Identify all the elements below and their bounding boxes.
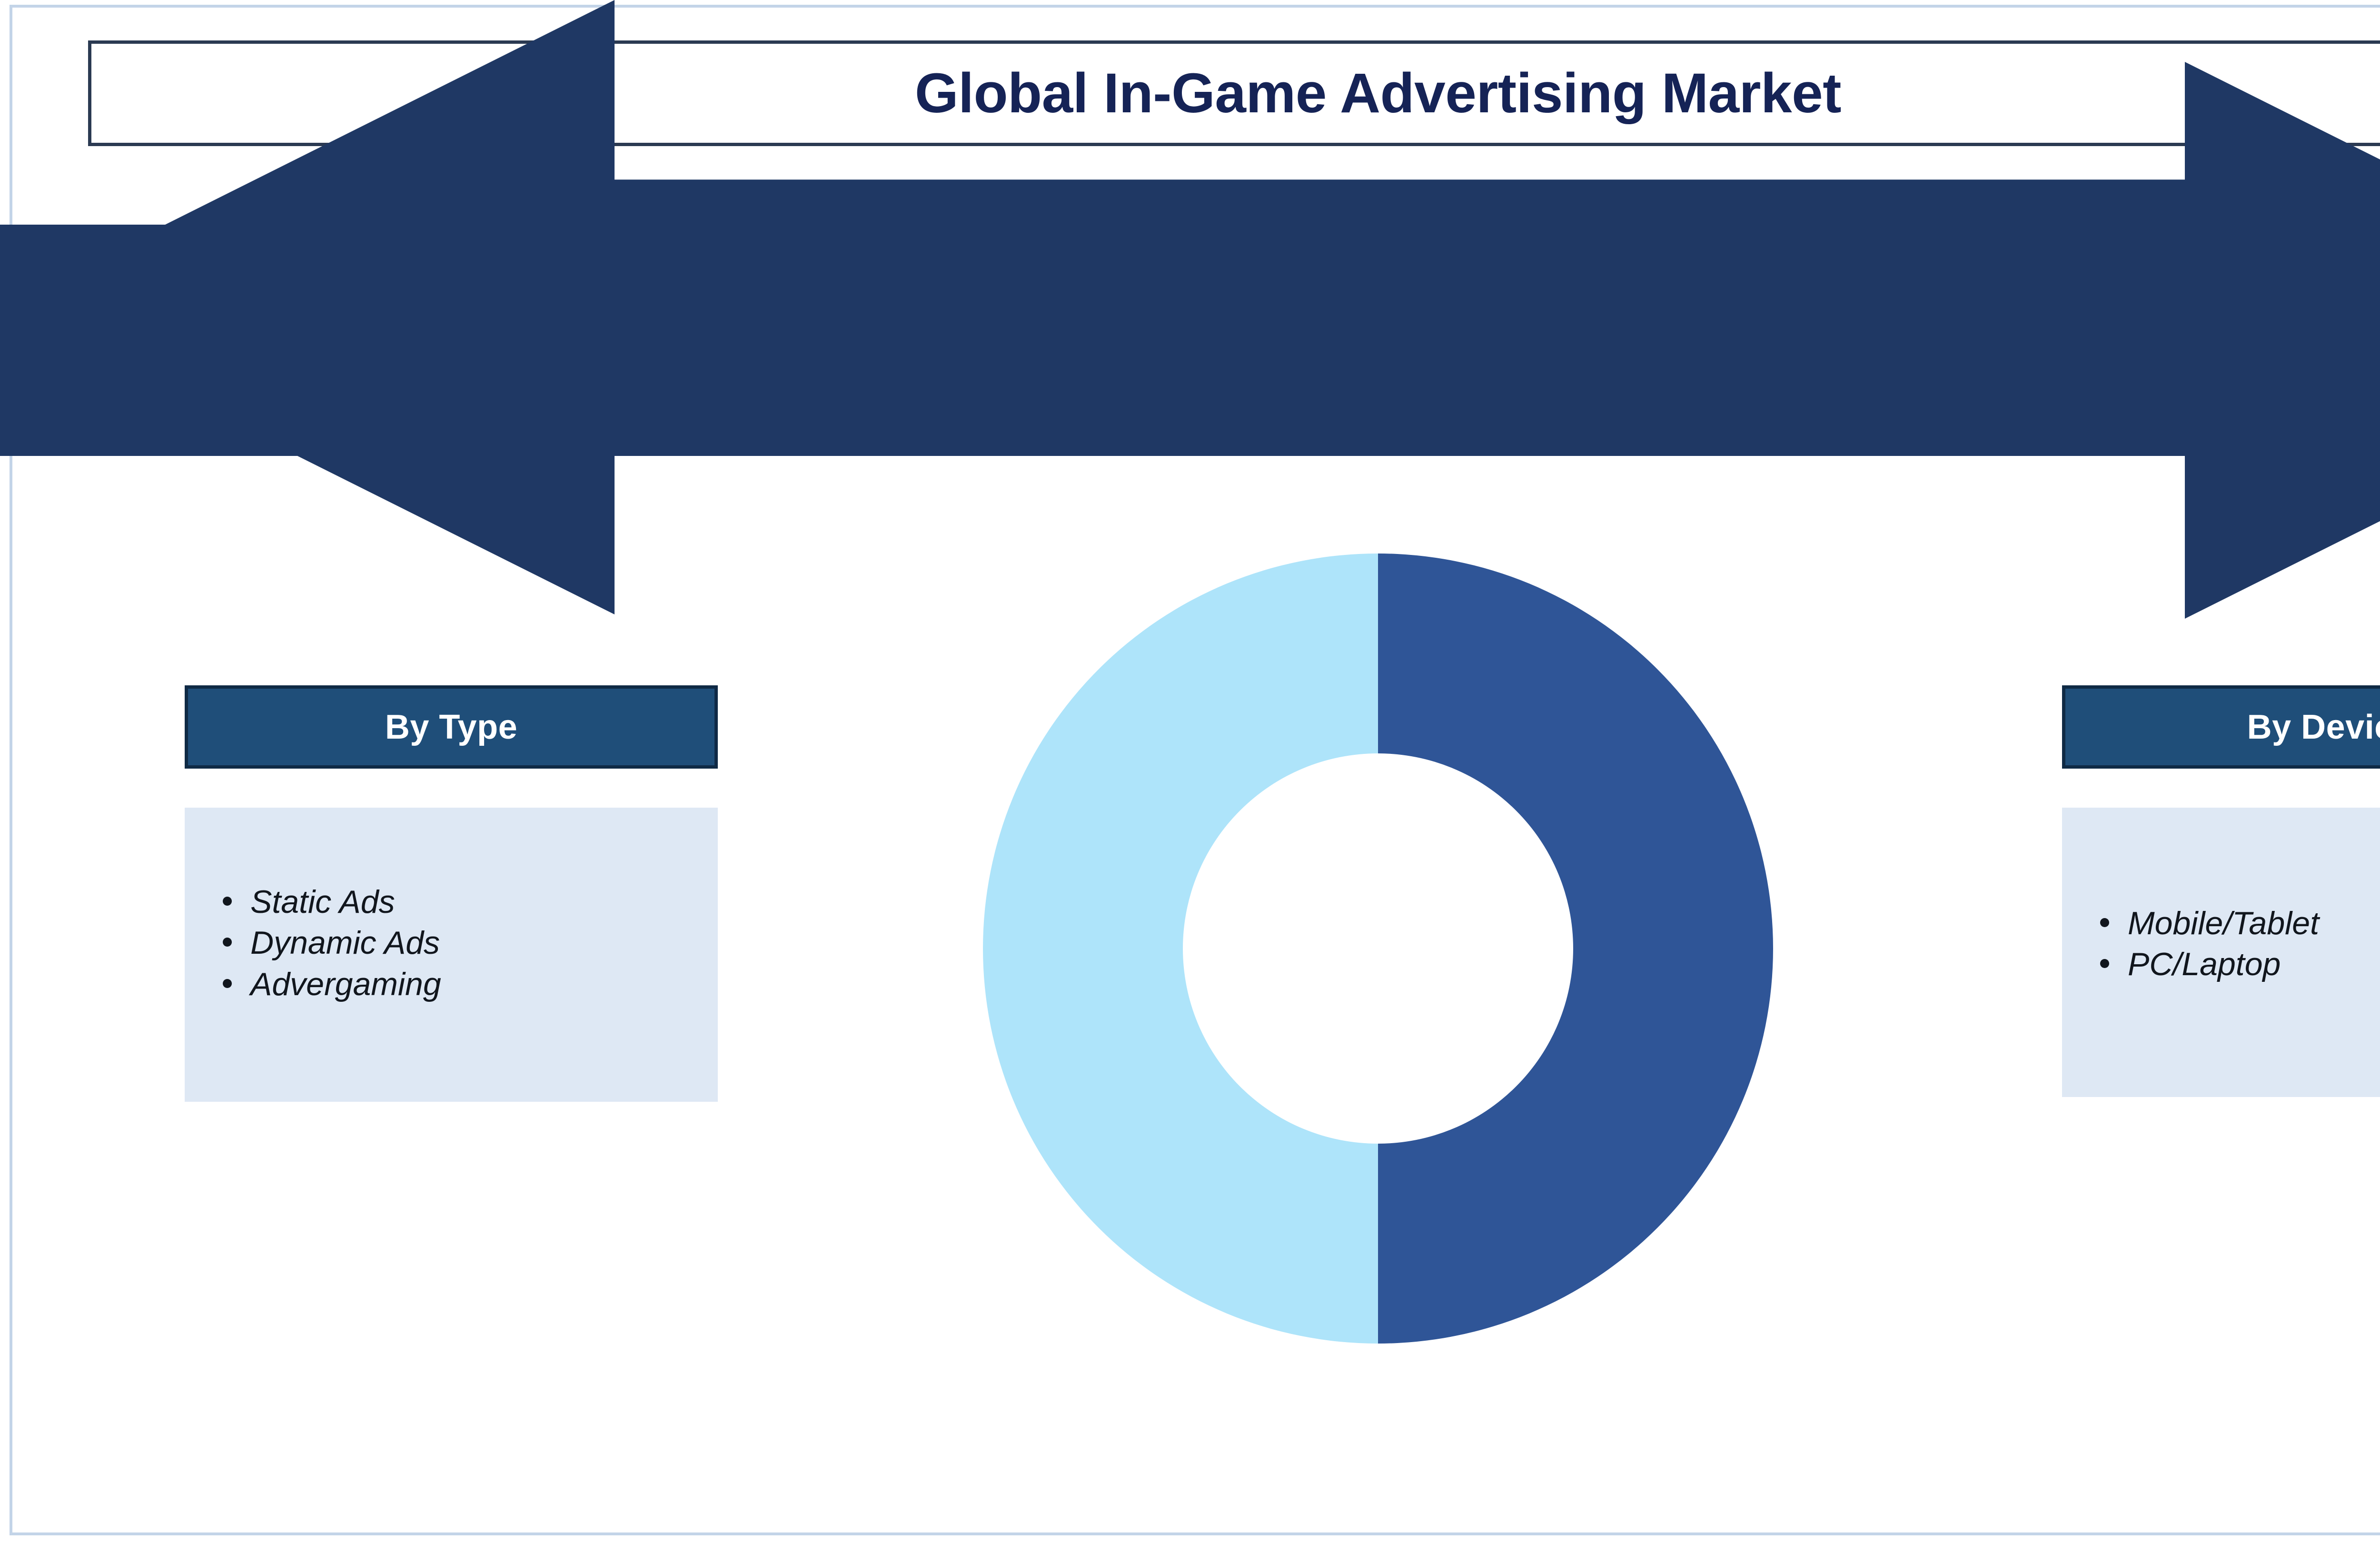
panel-header-by-type[interactable]: By Type <box>185 685 718 769</box>
bullet-dot-icon <box>223 979 232 988</box>
segment-panel-by-type: By Type Static Ads Dynamic Ads Advergami… <box>185 685 718 1102</box>
list-item: Static Ads <box>223 881 756 922</box>
panel-body-by-type: Static Ads Dynamic Ads Advergaming <box>185 808 718 1102</box>
list-item-label: Advergaming <box>250 966 441 1002</box>
donut-slice-by-device <box>1378 554 1773 1344</box>
list-item: PC/Laptop <box>2100 944 2380 985</box>
list-item: Mobile/Tablet <box>2100 903 2380 944</box>
infographic-page: Global In-Game Advertising Market Report… <box>0 0 2380 1542</box>
list-item-label: Dynamic Ads <box>250 925 440 961</box>
connector-arrow-left <box>0 0 276 62</box>
segment-list-by-type: Static Ads Dynamic Ads Advergaming <box>185 881 756 1005</box>
segment-panel-by-device: By Device Mobile/Tablet PC/Laptop <box>2062 685 2380 1097</box>
list-item: Dynamic Ads <box>223 922 756 963</box>
panel-header-label-by-type: By Type <box>385 708 517 747</box>
segmentation-donut-chart <box>983 554 1773 1344</box>
bullet-dot-icon <box>2100 918 2109 927</box>
arrow-right-icon <box>0 62 2380 619</box>
panel-header-by-device[interactable]: By Device <box>2062 685 2380 769</box>
panel-body-by-device: Mobile/Tablet PC/Laptop <box>2062 808 2380 1097</box>
list-item: Advergaming <box>223 964 756 1005</box>
bullet-dot-icon <box>223 897 232 906</box>
bullet-dot-icon <box>2100 959 2109 968</box>
panel-header-label-by-device: By Device <box>2247 708 2380 747</box>
bullet-dot-icon <box>223 938 232 947</box>
list-item-label: Mobile/Tablet <box>2128 905 2319 941</box>
segment-list-by-device: Mobile/Tablet PC/Laptop <box>2062 903 2380 985</box>
connector-arrow-right <box>0 62 305 124</box>
list-item-label: Static Ads <box>250 884 395 920</box>
list-item-label: PC/Laptop <box>2128 946 2281 982</box>
donut-slice-by-type <box>983 554 1378 1344</box>
